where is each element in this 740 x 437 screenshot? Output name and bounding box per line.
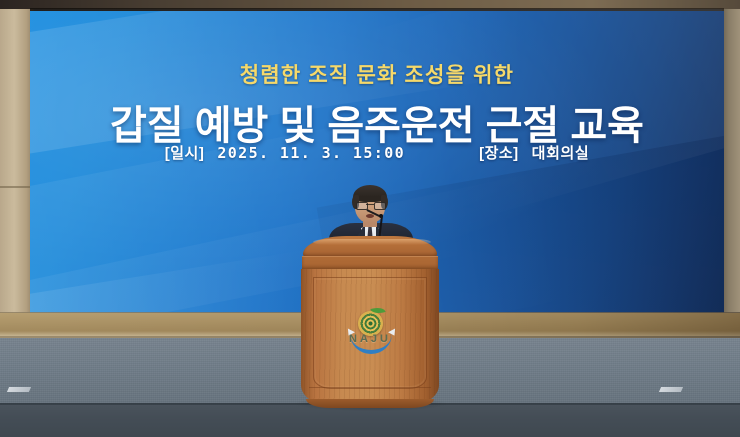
podium-base	[306, 399, 434, 408]
slide-info-datetime: [일시] 2025. 11. 3. 15:00	[165, 142, 405, 163]
speaker-glasses-bridge	[366, 204, 374, 205]
podium-upper-band	[302, 256, 438, 270]
floor-marker-right	[659, 387, 683, 392]
presentation-photo: 청렴한 조직 문화 조성을 위한 갑질 예방 및 음주운전 근절 교육 [일시]…	[0, 0, 740, 437]
podium: NAJU	[301, 236, 439, 405]
info-label-place: [장소]	[479, 142, 519, 163]
emblem-wordmark: NAJU	[324, 333, 416, 345]
right-wall	[722, 0, 740, 340]
wall-seam	[0, 186, 34, 188]
naju-emblem: NAJU	[324, 307, 416, 357]
speaker-mouth	[366, 214, 374, 218]
slide-info-row: [일시] 2025. 11. 3. 15:00 [장소] 대회의실	[30, 142, 724, 163]
floor-marker-left	[7, 387, 31, 392]
speaker-glasses-lens-right	[374, 202, 386, 210]
info-value-place: 대회의실	[532, 142, 590, 163]
podium-top-highlight	[313, 239, 431, 245]
podium-body: NAJU	[301, 269, 439, 405]
info-label-datetime: [일시]	[165, 142, 205, 163]
info-value-datetime: 2025. 11. 3. 15:00	[217, 144, 405, 162]
speaker-person	[327, 183, 415, 241]
left-wall	[0, 0, 34, 340]
slide-info-place: [장소] 대회의실	[479, 142, 589, 163]
podium-top	[303, 236, 437, 257]
slide-subtitle: 청렴한 조직 문화 조성을 위한	[30, 59, 724, 89]
